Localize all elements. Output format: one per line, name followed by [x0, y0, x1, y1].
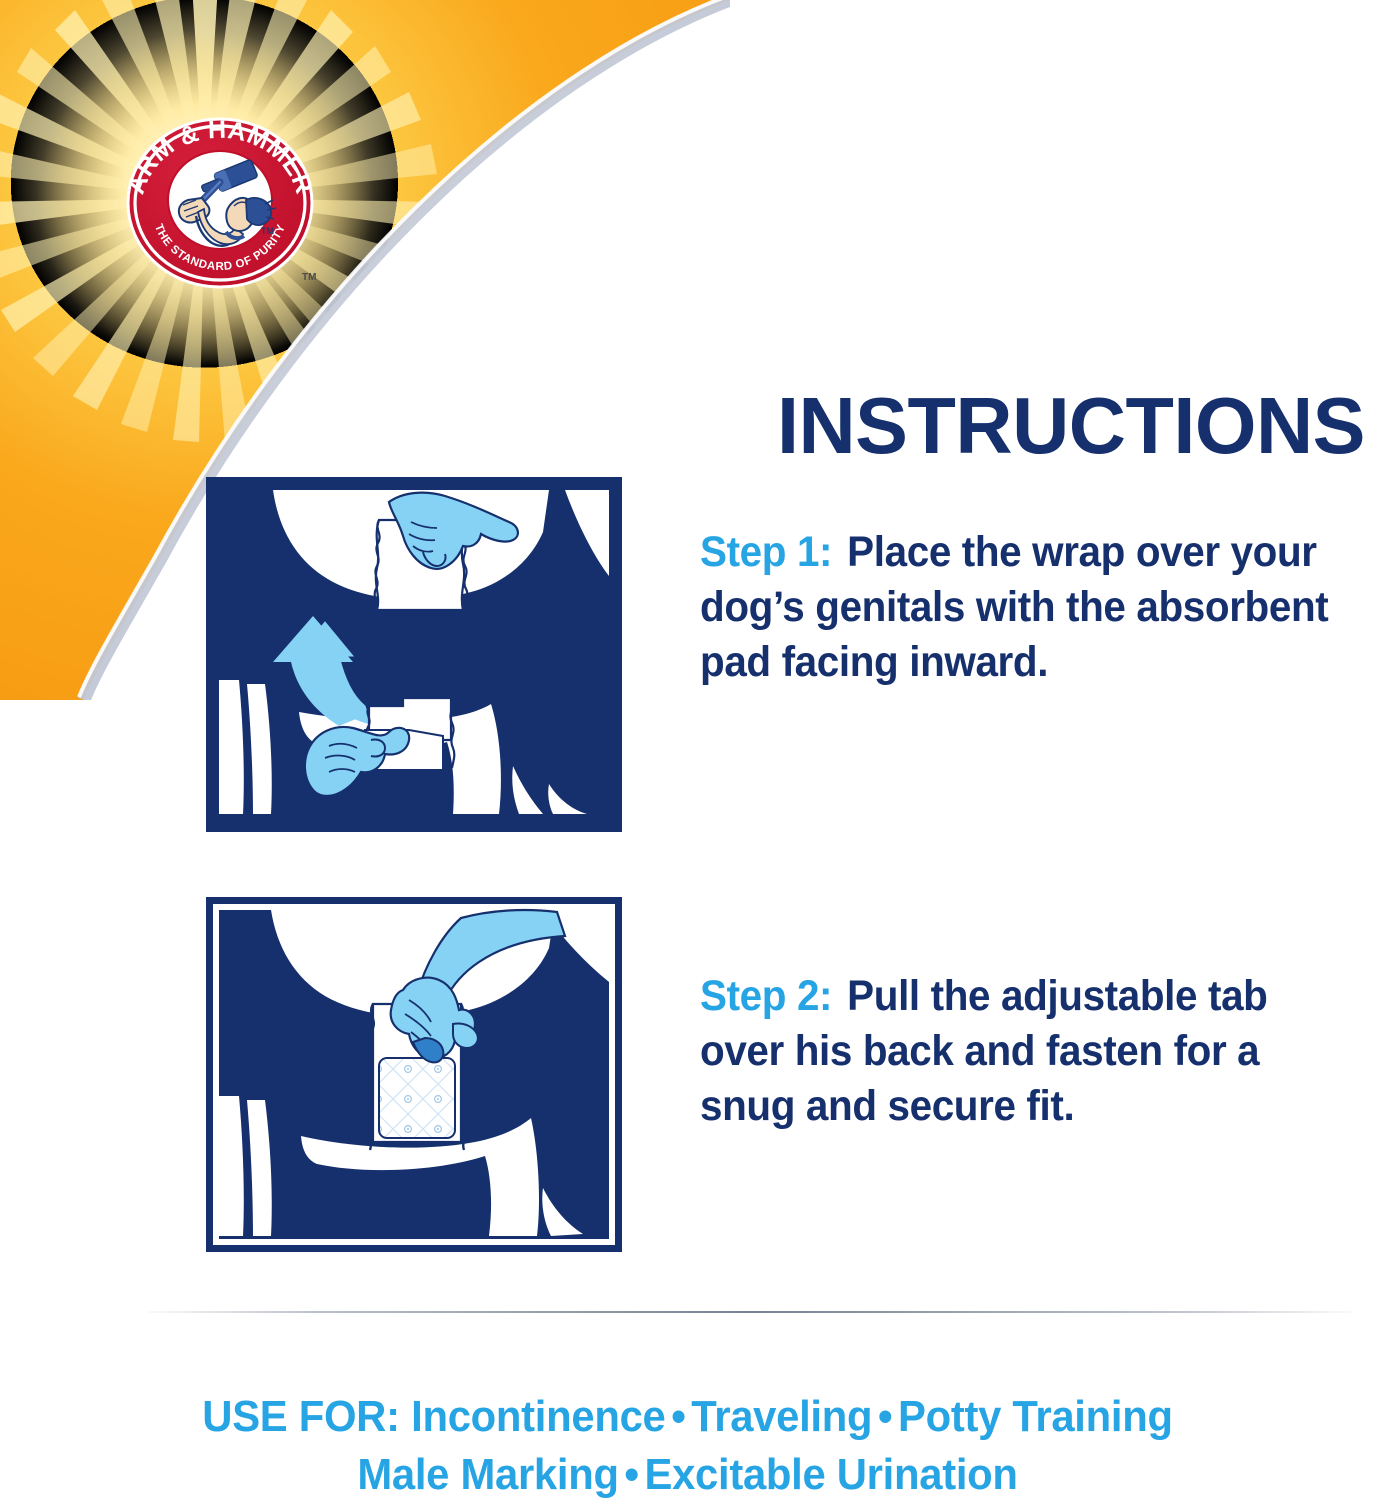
use-for-item-traveling: Traveling: [691, 1392, 872, 1441]
bullet-separator-3: •: [619, 1446, 645, 1504]
step-2-illustration: [206, 897, 622, 1252]
step-2-label: Step 2:: [700, 972, 832, 1020]
logo-inner-trademark: TM: [261, 226, 274, 236]
use-for-item-male-marking: Male Marking: [357, 1450, 618, 1499]
arm-and-hammer-logo: ARM & HAMMER THE STANDARD OF PURITY: [116, 112, 325, 294]
use-for-item-incontinence: Incontinence: [411, 1392, 665, 1441]
use-for-item-excitable-urination: Excitable Urination: [644, 1450, 1017, 1499]
use-for-line-2: Male Marking•Excitable Urination: [34, 1446, 1340, 1504]
bullet-separator-2: •: [872, 1388, 898, 1446]
use-for-label: USE FOR:: [202, 1392, 399, 1441]
step-1-text: Step 1:Place the wrap over your dog’s ge…: [700, 525, 1332, 690]
step-1-illustration: [206, 477, 622, 832]
step-1-label: Step 1:: [700, 528, 832, 576]
logo-outer-trademark: TM: [302, 272, 316, 283]
use-for-item-potty-training: Potty Training: [898, 1392, 1173, 1441]
step-2-text: Step 2:Pull the adjustable tab over his …: [700, 969, 1332, 1134]
page-title: INSTRUCTIONS: [647, 382, 1365, 470]
use-for-section: USE FOR:Incontinence•Traveling•Potty Tra…: [0, 1388, 1375, 1504]
use-for-line-1: USE FOR:Incontinence•Traveling•Potty Tra…: [34, 1388, 1340, 1446]
section-divider: [148, 1311, 1353, 1313]
bullet-separator-1: •: [666, 1388, 692, 1446]
